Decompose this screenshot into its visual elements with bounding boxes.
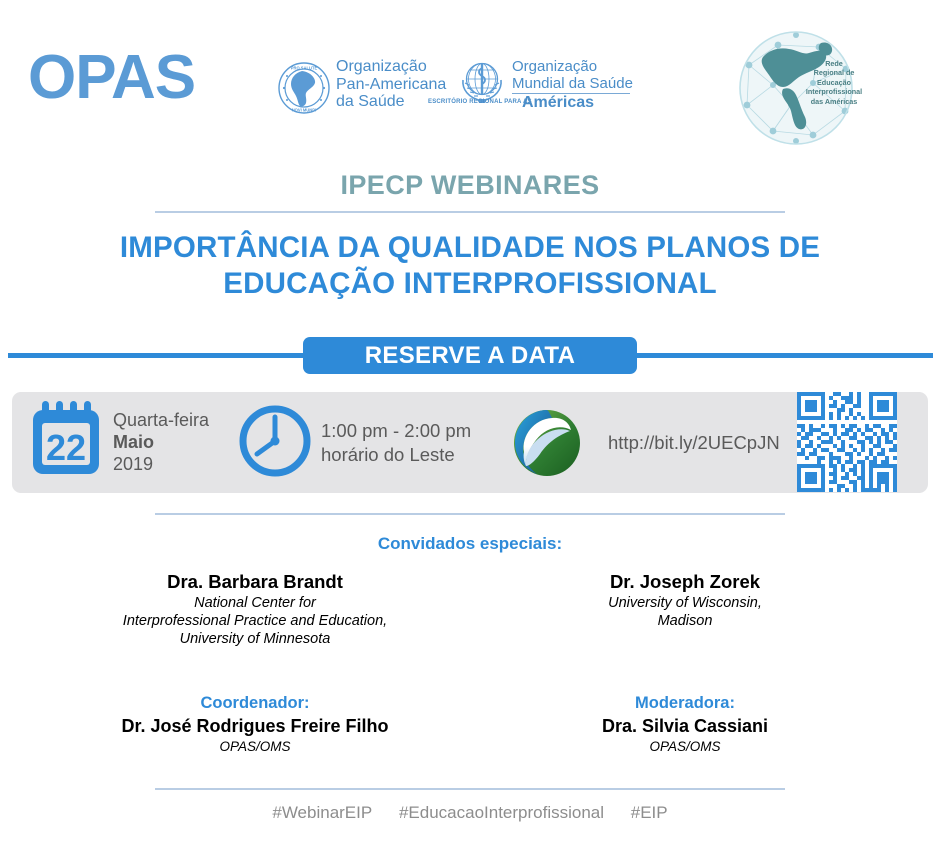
- event-month: Maio: [113, 431, 209, 453]
- event-time-text: 1:00 pm - 2:00 pm horário do Leste: [321, 419, 471, 467]
- paho-seal-icon: PRO SALUTE NOVI MUNDI: [278, 62, 330, 114]
- webinar-series-kicker: IPECP WEBINARES: [0, 170, 940, 201]
- svg-text:PRO SALUTE: PRO SALUTE: [291, 65, 318, 70]
- calendar-day-number: 22: [46, 427, 86, 468]
- rede-line-3: Educação: [800, 78, 868, 87]
- qr-code-icon[interactable]: [797, 392, 897, 492]
- moderator-role-label: Moderadora:: [470, 692, 900, 714]
- event-time-range: 1:00 pm - 2:00 pm: [321, 419, 471, 443]
- calendar-icon: 22: [30, 398, 102, 476]
- event-timezone: horário do Leste: [321, 443, 471, 467]
- banner-rule-left: [8, 353, 308, 358]
- rede-line-2: Regional de: [800, 68, 868, 77]
- divider-middle: [155, 513, 785, 515]
- opas-wordmark: OPAS: [28, 47, 195, 109]
- event-date-text: Quarta-feira Maio 2019: [113, 409, 209, 475]
- guest-speaker-1: Dra. Barbara Brandt National Center for …: [40, 570, 470, 648]
- coordinator-role-label: Coordenador:: [40, 692, 470, 714]
- rede-line-5: das Américas: [800, 97, 868, 106]
- guest-speaker-1-affil-1: National Center for: [40, 594, 470, 612]
- page-title-line-2: EDUCAÇÃO INTERPROFISSIONAL: [40, 266, 900, 302]
- page-title-line-1: IMPORTÂNCIA DA QUALIDADE NOS PLANOS DE: [40, 230, 900, 266]
- event-weekday: Quarta-feira: [113, 409, 209, 431]
- logo-header: OPAS PRO SALUTE NOVI MUNDI Organização P…: [0, 0, 940, 158]
- who-office-label: ESCRITÓRIO REGIONAL PARA AS: [428, 99, 532, 105]
- divider-top: [155, 211, 785, 213]
- guest-speaker-2: Dr. Joseph Zorek University of Wisconsin…: [470, 570, 900, 630]
- moderator-block: Moderadora: Dra. Silvia Cassiani OPAS/OM…: [470, 692, 900, 756]
- who-region-label: Américas: [522, 94, 594, 112]
- who-line-2: Mundial da Saúde: [512, 75, 633, 92]
- webex-sphere-icon: [512, 408, 582, 478]
- save-the-date-banner: RESERVE A DATA: [0, 337, 940, 373]
- hashtag-3: #EIP: [631, 803, 668, 822]
- paho-line-2: Pan-Americana: [336, 76, 446, 94]
- registration-url[interactable]: http://bit.ly/2UECpJN: [608, 432, 780, 454]
- rede-line-4: Interprofissional: [800, 87, 868, 96]
- hashtag-2: #EducacaoInterprofissional: [399, 803, 604, 822]
- coordinator-name: Dr. José Rodrigues Freire Filho: [40, 714, 470, 738]
- divider-bottom: [155, 788, 785, 790]
- coordinator-block: Coordenador: Dr. José Rodrigues Freire F…: [40, 692, 470, 756]
- guest-speaker-1-affil-2: Interprofessional Practice and Education…: [40, 612, 470, 630]
- clock-icon: [238, 404, 312, 478]
- guest-speaker-2-name: Dr. Joseph Zorek: [470, 570, 900, 594]
- guest-speaker-2-affil-2: Madison: [470, 612, 900, 630]
- guests-heading: Convidados especiais:: [0, 534, 940, 554]
- svg-text:NOVI MUNDI: NOVI MUNDI: [292, 108, 317, 113]
- banner-rule-right: [634, 353, 933, 358]
- rede-line-1: Rede: [800, 59, 868, 68]
- page-title: IMPORTÂNCIA DA QUALIDADE NOS PLANOS DE E…: [40, 230, 900, 302]
- save-the-date-label: RESERVE A DATA: [303, 337, 637, 374]
- coordinator-org: OPAS/OMS: [40, 738, 470, 756]
- paho-line-1: Organização: [336, 58, 446, 76]
- moderator-org: OPAS/OMS: [470, 738, 900, 756]
- moderator-name: Dra. Silvia Cassiani: [470, 714, 900, 738]
- rede-regional-label: Rede Regional de Educação Interprofissio…: [800, 59, 868, 106]
- event-year: 2019: [113, 453, 209, 475]
- guest-speaker-1-affil-3: University of Minnesota: [40, 630, 470, 648]
- hashtag-list: #WebinarEIP #EducacaoInterprofissional #…: [0, 803, 940, 823]
- guest-speaker-2-affil-1: University of Wisconsin,: [470, 594, 900, 612]
- hashtag-1: #WebinarEIP: [272, 803, 372, 822]
- who-line-1: Organização: [512, 58, 633, 75]
- guest-speaker-1-name: Dra. Barbara Brandt: [40, 570, 470, 594]
- who-wordmark: Organização Mundial da Saúde: [512, 58, 633, 92]
